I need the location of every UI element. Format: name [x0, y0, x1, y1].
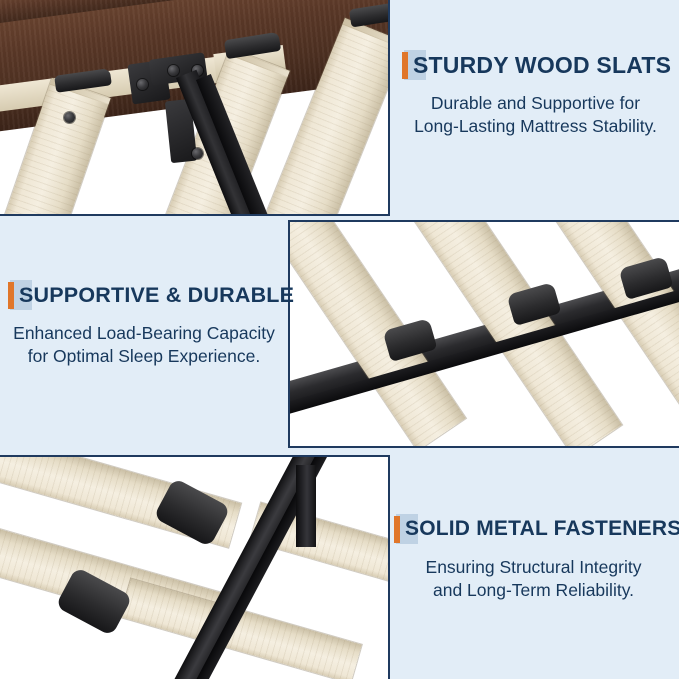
- feature-heading-2: SUPPORTIVE & DURABLE: [0, 278, 288, 312]
- feature-text-sturdy-wood-slats: STURDY WOOD SLATS Durable and Supportive…: [392, 48, 679, 168]
- feature-body-1-line2: Long-Lasting Mattress Stability.: [392, 115, 679, 138]
- accent-bar-icon: [394, 516, 400, 543]
- accent-bar-icon: [8, 282, 14, 309]
- feature-body-1-line1: Durable and Supportive for: [392, 92, 679, 115]
- feature-body-2: Enhanced Load-Bearing Capacity for Optim…: [0, 322, 288, 368]
- feature-image-supportive-durable: [288, 220, 679, 448]
- feature-body-1: Durable and Supportive for Long-Lasting …: [392, 92, 679, 138]
- feature-body-3-line1: Ensuring Structural Integrity: [388, 556, 679, 579]
- screw-icon: [64, 112, 75, 123]
- feature-heading-3-label: SOLID METAL FASTENERS: [405, 517, 679, 541]
- feature-text-solid-metal-fasteners: SOLID METAL FASTENERS Ensuring Structura…: [388, 512, 679, 632]
- feature-body-2-line2: for Optimal Sleep Experience.: [0, 345, 288, 368]
- feature-heading-1-label: STURDY WOOD SLATS: [413, 52, 671, 79]
- feature-text-supportive-durable: SUPPORTIVE & DURABLE Enhanced Load-Beari…: [0, 278, 288, 398]
- feature-heading-2-label: SUPPORTIVE & DURABLE: [19, 283, 294, 308]
- screw-icon: [168, 65, 179, 76]
- feature-heading-1: STURDY WOOD SLATS: [392, 48, 679, 82]
- feature-image-sturdy-wood-slats: [0, 0, 390, 216]
- feature-body-3: Ensuring Structural Integrity and Long-T…: [388, 556, 679, 602]
- screw-icon: [137, 79, 148, 90]
- metal-leg: [296, 465, 316, 547]
- photo-scene-1: [0, 0, 388, 214]
- feature-body-3-line2: and Long-Term Reliability.: [388, 579, 679, 602]
- infographic-canvas: STURDY WOOD SLATS Durable and Supportive…: [0, 0, 679, 679]
- feature-body-2-line1: Enhanced Load-Bearing Capacity: [0, 322, 288, 345]
- feature-image-solid-metal-fasteners: [0, 455, 390, 679]
- feature-heading-3: SOLID METAL FASTENERS: [388, 512, 679, 546]
- photo-scene-2: [290, 222, 679, 446]
- photo-scene-3: [0, 457, 388, 679]
- accent-bar-icon: [402, 52, 408, 79]
- screw-icon: [192, 148, 203, 159]
